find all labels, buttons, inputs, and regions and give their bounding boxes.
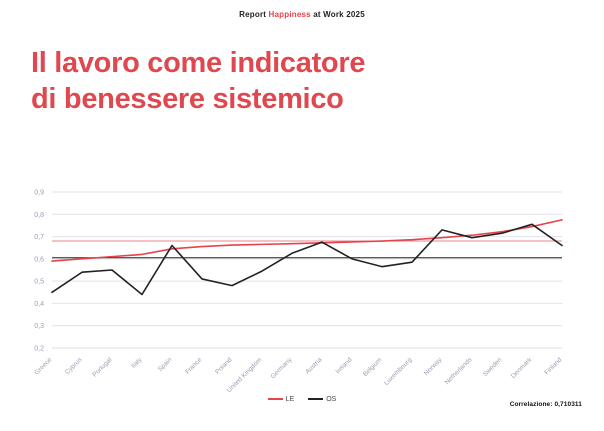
x-axis-tick-label: Ireland xyxy=(334,356,353,375)
legend-swatch-le-icon xyxy=(268,398,283,400)
chart-container: 0,90,80,70,60,50,40,30,2GreeceCyprusPort… xyxy=(0,168,604,403)
report-header: Report Happiness at Work 2025 xyxy=(0,0,604,19)
x-axis-tick-label: Cyprus xyxy=(64,356,84,376)
x-axis-tick-label: France xyxy=(184,356,204,376)
report-suffix: at Work 2025 xyxy=(311,10,365,19)
legend-label-os: OS xyxy=(326,396,336,403)
correlation-value: 0,710311 xyxy=(554,401,582,408)
x-axis-tick-label: Denmark xyxy=(510,356,534,380)
x-axis-tick-label: Norway xyxy=(423,356,444,377)
y-axis-tick-label: 0,3 xyxy=(34,323,44,330)
report-prefix: Report xyxy=(239,10,268,19)
x-axis-tick-label: Sweden xyxy=(482,356,504,378)
x-axis-tick-label: Austria xyxy=(304,356,324,376)
legend-item-os: OS xyxy=(308,396,336,403)
x-axis-tick-label: Germany xyxy=(270,356,294,380)
page-title-line-1: Il lavoro come indicatore xyxy=(31,46,451,82)
y-axis-tick-label: 0,8 xyxy=(34,212,44,219)
x-axis-tick-label: Greece xyxy=(33,356,53,376)
legend-swatch-os-icon xyxy=(308,398,323,400)
line-chart: 0,90,80,70,60,50,40,30,2GreeceCyprusPort… xyxy=(0,168,604,403)
x-axis-tick-label: Luxembourg xyxy=(383,356,414,387)
page-title-line-2: di benessere sistemico xyxy=(31,82,451,118)
series-line-le xyxy=(52,220,562,261)
y-axis-tick-label: 0,2 xyxy=(34,346,44,353)
y-axis-tick-label: 0,7 xyxy=(34,234,44,241)
page-title: Il lavoro come indicatore di benessere s… xyxy=(31,46,451,117)
y-axis-tick-label: 0,4 xyxy=(34,301,44,308)
y-axis-tick-label: 0,5 xyxy=(34,279,44,286)
x-axis-tick-label: Poland xyxy=(214,356,234,376)
legend-label-le: LE xyxy=(286,396,295,403)
x-axis-tick-label: Portugal xyxy=(91,356,113,378)
x-axis-tick-label: Finland xyxy=(543,356,563,376)
x-axis-tick-label: Spain xyxy=(157,356,174,373)
y-axis-tick-label: 0,9 xyxy=(34,190,44,197)
correlation-readout: Correlazione: 0,710311 xyxy=(510,401,582,408)
x-axis-tick-label: Belgium xyxy=(362,356,384,378)
x-axis-tick-label: Italy xyxy=(130,356,144,370)
correlation-label: Correlazione: xyxy=(510,401,555,408)
legend-item-le: LE xyxy=(268,396,295,403)
report-highlight: Happiness xyxy=(269,10,311,19)
x-axis-tick-label: Netherlands xyxy=(444,356,474,386)
series-line-os xyxy=(52,224,562,294)
y-axis-tick-label: 0,6 xyxy=(34,256,44,263)
